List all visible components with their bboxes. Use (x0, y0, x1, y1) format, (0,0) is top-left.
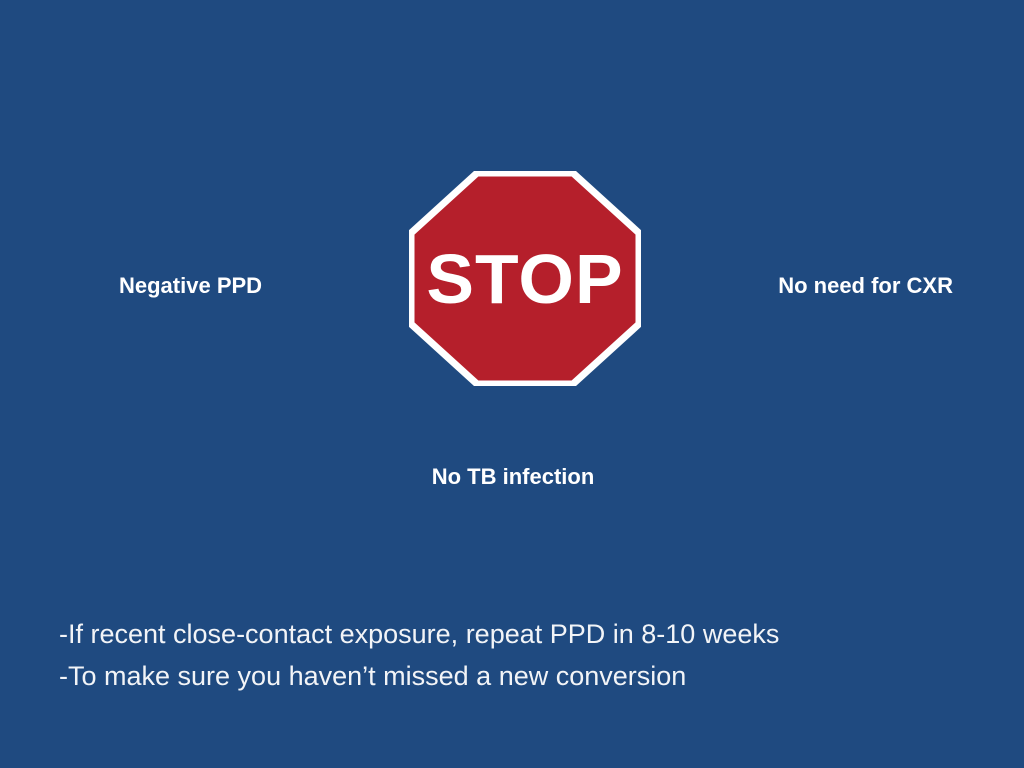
slide-canvas: STOP Negative PPD No need for CXR No TB … (0, 0, 1024, 768)
label-no-need-for-cxr: No need for CXR (778, 274, 953, 298)
note-line-2: -To make sure you haven’t missed a new c… (59, 655, 979, 697)
label-no-tb-infection: No TB infection (2, 465, 1024, 489)
note-line-1: -If recent close-contact exposure, repea… (59, 613, 979, 655)
notes-block: -If recent close-contact exposure, repea… (59, 613, 979, 697)
label-negative-ppd: Negative PPD (119, 274, 262, 298)
stop-sign-icon: STOP (409, 171, 641, 386)
